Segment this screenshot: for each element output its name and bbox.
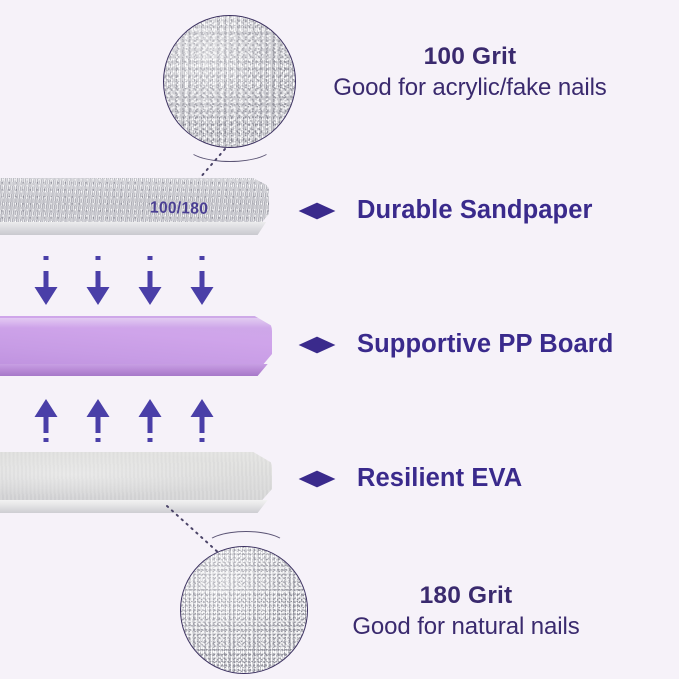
arrow-down-dashed-icon-4 bbox=[188, 254, 216, 306]
magnifier-circle-icon-bottom bbox=[180, 546, 308, 674]
diamond-bullet-icon-2 bbox=[298, 336, 336, 354]
layer-label-supportive-pp-board: Supportive PP Board bbox=[298, 330, 613, 359]
diamond-bullet-icon-1 bbox=[298, 202, 336, 220]
layer-label-text-3: Resilient EVA bbox=[357, 464, 522, 493]
callout-top-subtitle: Good for acrylic/fake nails bbox=[294, 75, 646, 101]
eva-board-face bbox=[0, 452, 272, 502]
arrow-up-group bbox=[32, 398, 216, 450]
eva-board-edge bbox=[0, 500, 272, 513]
layer-label-text-1: Durable Sandpaper bbox=[357, 196, 593, 225]
file-printed-grit-text: 100/180 bbox=[150, 199, 209, 219]
callout-bottom-subtitle: Good for natural nails bbox=[296, 614, 636, 640]
callout-top-text: 100 Grit Good for acrylic/fake nails bbox=[294, 44, 646, 101]
pp-board-edge bbox=[0, 364, 272, 376]
arrow-down-group bbox=[32, 254, 216, 306]
eva-board-icon bbox=[0, 452, 272, 514]
pp-board-face bbox=[0, 316, 272, 366]
layer-label-resilient-eva: Resilient EVA bbox=[298, 464, 522, 493]
layer-label-text-2: Supportive PP Board bbox=[357, 330, 613, 359]
layer-label-durable-sandpaper: Durable Sandpaper bbox=[298, 196, 593, 225]
sandpaper-file-face bbox=[0, 178, 269, 224]
arrow-up-dashed-icon-3 bbox=[136, 398, 164, 450]
sandpaper-file-icon bbox=[0, 178, 269, 236]
sandpaper-file-edge bbox=[0, 222, 269, 235]
arrow-down-dashed-icon-1 bbox=[32, 254, 60, 306]
callout-bottom-title: 180 Grit bbox=[296, 583, 636, 609]
magnifier-sheen-bottom bbox=[181, 547, 307, 673]
arrow-up-dashed-icon-4 bbox=[188, 398, 216, 450]
arrow-down-dashed-icon-3 bbox=[136, 254, 164, 306]
magnifier-sheen bbox=[164, 16, 295, 147]
arrow-up-dashed-icon-1 bbox=[32, 398, 60, 450]
arrow-up-dashed-icon-2 bbox=[84, 398, 112, 450]
infographic-canvas: 100 Grit Good for acrylic/fake nails 100… bbox=[0, 0, 679, 679]
diamond-bullet-icon-3 bbox=[298, 470, 336, 488]
arrow-down-dashed-icon-2 bbox=[84, 254, 112, 306]
callout-bottom-text: 180 Grit Good for natural nails bbox=[296, 583, 636, 640]
callout-top-title: 100 Grit bbox=[294, 44, 646, 70]
pp-board-icon bbox=[0, 316, 272, 376]
magnifier-circle-icon-top bbox=[163, 15, 296, 148]
